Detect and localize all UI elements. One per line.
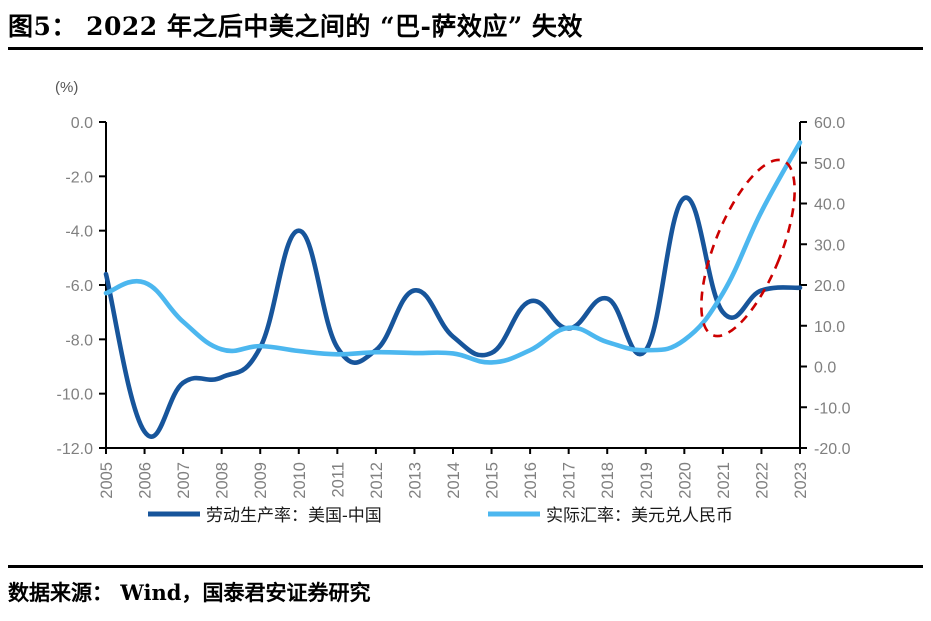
right-tick-label: -20.0	[814, 441, 851, 458]
figure-container: 图5： 2022 年之后中美之间的 “巴-萨效应” 失效 (%) 0.0-2.0…	[0, 0, 931, 621]
left-axis-ticks: 0.0-2.0-4.0-6.0-8.0-10.0-12.0	[57, 115, 106, 458]
line-chart: (%) 0.0-2.0-4.0-6.0-8.0-10.0-12.0 60.050…	[0, 52, 931, 562]
x-tick-label: 2010	[291, 462, 309, 499]
left-tick-label: -4.0	[65, 224, 93, 241]
right-tick-label: 50.0	[814, 156, 845, 173]
x-tick-label: 2011	[329, 462, 347, 497]
figure-title-row: 图5： 2022 年之后中美之间的 “巴-萨效应” 失效	[8, 4, 923, 46]
x-tick-label: 2015	[484, 462, 502, 499]
x-tick-label: 2018	[599, 462, 617, 499]
right-tick-label: 0.0	[814, 360, 836, 377]
legend-label-0: 劳动生产率：美国-中国	[206, 506, 382, 526]
x-tick-label: 2022	[753, 462, 771, 499]
footer-divider	[8, 565, 923, 568]
x-tick-label: 2006	[137, 462, 155, 499]
x-tick-label: 2017	[561, 462, 579, 499]
right-tick-label: -10.0	[814, 400, 851, 417]
x-tick-label: 2012	[368, 462, 386, 499]
x-tick-label: 2009	[252, 462, 270, 499]
right-tick-label: 20.0	[814, 278, 845, 295]
x-tick-label: 2013	[406, 462, 424, 499]
right-tick-label: 10.0	[814, 319, 845, 336]
left-tick-label: -6.0	[65, 278, 93, 295]
chart-series-group	[106, 142, 800, 436]
page-title: 图5： 2022 年之后中美之间的 “巴-萨效应” 失效	[8, 7, 583, 43]
chart-plot-area: (%) 0.0-2.0-4.0-6.0-8.0-10.0-12.0 60.050…	[0, 52, 931, 562]
legend-label-1: 实际汇率：美元兑人民币	[546, 506, 733, 526]
x-axis-ticks: 2005200620072008200920102011201220132014…	[98, 448, 810, 499]
left-tick-label: -2.0	[65, 169, 93, 186]
right-tick-label: 30.0	[814, 237, 845, 254]
x-tick-label: 2021	[715, 462, 733, 499]
title-divider	[8, 47, 923, 50]
left-tick-label: 0.0	[71, 115, 93, 132]
series-line-real-exchange-rate	[106, 142, 800, 362]
x-tick-label: 2020	[676, 462, 694, 499]
left-tick-label: -10.0	[57, 387, 94, 404]
left-tick-label: -12.0	[57, 441, 94, 458]
x-tick-label: 2019	[638, 462, 656, 499]
chart-legend: 劳动生产率：美国-中国实际汇率：美元兑人民币	[148, 506, 733, 526]
x-tick-label: 2023	[792, 462, 810, 499]
right-tick-label: 40.0	[814, 197, 845, 214]
right-tick-label: 60.0	[814, 115, 845, 132]
x-tick-label: 2005	[98, 462, 116, 499]
left-tick-label: -8.0	[65, 332, 93, 349]
figure-source: 数据来源： Wind，国泰君安证券研究	[8, 577, 370, 607]
x-tick-label: 2008	[214, 462, 232, 499]
x-tick-label: 2014	[445, 462, 463, 499]
x-tick-label: 2016	[522, 462, 540, 499]
series-line-labor-productivity	[106, 198, 800, 437]
x-tick-label: 2007	[175, 462, 193, 499]
right-axis-ticks: 60.050.040.030.020.010.00.0-10.0-20.0	[800, 115, 851, 458]
left-axis-unit: (%)	[55, 79, 78, 96]
